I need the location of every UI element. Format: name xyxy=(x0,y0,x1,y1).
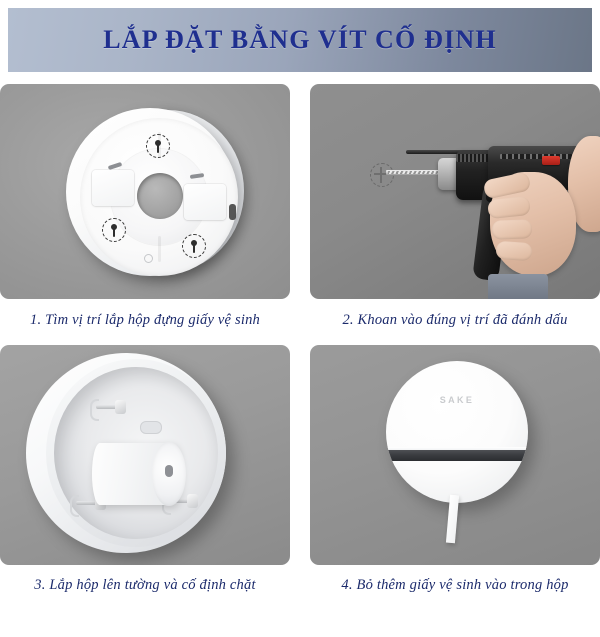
backplate-spoke xyxy=(158,236,161,262)
step-card-2: 2. Khoan vào đúng vị trí đã đánh dấu xyxy=(310,84,600,329)
target-crosshair-vertical xyxy=(380,167,382,183)
keyhole-bracket xyxy=(70,495,79,517)
backplate-body xyxy=(66,108,234,276)
spindle-slot xyxy=(165,465,173,477)
brand-logo: SAKE xyxy=(386,395,528,405)
dispenser-dark-band xyxy=(386,450,528,461)
step-caption-1: 1. Tìm vị trí lắp hộp đựng giấy vệ sinh xyxy=(0,299,290,329)
backplate-illustration xyxy=(52,104,242,282)
keyhole-slot-left xyxy=(102,218,126,242)
step-card-3: 3. Lắp hộp lên tường và cố định chặt xyxy=(0,345,290,594)
backplate-adhesive-pad xyxy=(184,184,226,220)
backplate-face xyxy=(80,118,238,276)
header-banner: LẮP ĐẶT BẰNG VÍT CỐ ĐỊNH xyxy=(8,8,592,72)
step-photo-1 xyxy=(0,84,290,299)
step-card-4: SAKE 4. Bỏ thêm giấy vệ sinh vào trong h… xyxy=(310,345,600,594)
steps-row-1: 1. Tìm vị trí lắp hộp đựng giấy vệ sinh xyxy=(0,84,600,329)
backplate-center-hole xyxy=(137,173,183,219)
step-card-1: 1. Tìm vị trí lắp hộp đựng giấy vệ sinh xyxy=(0,84,290,329)
backplate-latch-nub xyxy=(229,204,236,220)
backplate-adhesive-pad xyxy=(92,170,134,206)
step-photo-2 xyxy=(310,84,600,299)
dispenser-cover: SAKE xyxy=(386,361,528,503)
step-caption-4: 4. Bỏ thêm giấy vệ sinh vào trong hộp xyxy=(310,565,600,594)
step-photo-3 xyxy=(0,345,290,565)
step-caption-2: 2. Khoan vào đúng vị trí đã đánh dấu xyxy=(310,299,600,329)
drill-bit-flutes xyxy=(388,171,444,174)
backplate-small-hole xyxy=(144,254,153,263)
keyhole-bracket xyxy=(90,399,99,421)
step-caption-3: 3. Lắp hộp lên tường và cố định chặt xyxy=(0,565,290,594)
screw-head xyxy=(115,400,126,414)
keyhole-slot-top xyxy=(146,134,170,158)
keyhole-tail xyxy=(113,228,116,237)
installation-guide-page: LẮP ĐẶT BẰNG VÍT CỐ ĐỊNH xyxy=(0,0,600,637)
keyhole-slot-right xyxy=(182,234,206,258)
steps-grid: 1. Tìm vị trí lắp hộp đựng giấy vệ sinh xyxy=(0,84,600,594)
finger xyxy=(487,196,531,219)
housing-wall-slot xyxy=(140,421,162,434)
drill-target-mark-icon xyxy=(370,163,394,187)
hand-front xyxy=(490,172,576,276)
step-photo-4: SAKE xyxy=(310,345,600,565)
screw-head xyxy=(187,494,198,508)
finger xyxy=(495,241,532,261)
keyhole-tail xyxy=(193,244,196,253)
mounting-screw-top xyxy=(90,399,124,415)
steps-row-2: 3. Lắp hộp lên tường và cố định chặt SAK… xyxy=(0,345,600,594)
keyhole-tail xyxy=(157,144,160,153)
page-title: LẮP ĐẶT BẰNG VÍT CỐ ĐỊNH xyxy=(103,25,497,55)
finger xyxy=(492,219,533,239)
shirt-sleeve xyxy=(488,274,548,299)
drill-mode-button xyxy=(542,156,560,165)
